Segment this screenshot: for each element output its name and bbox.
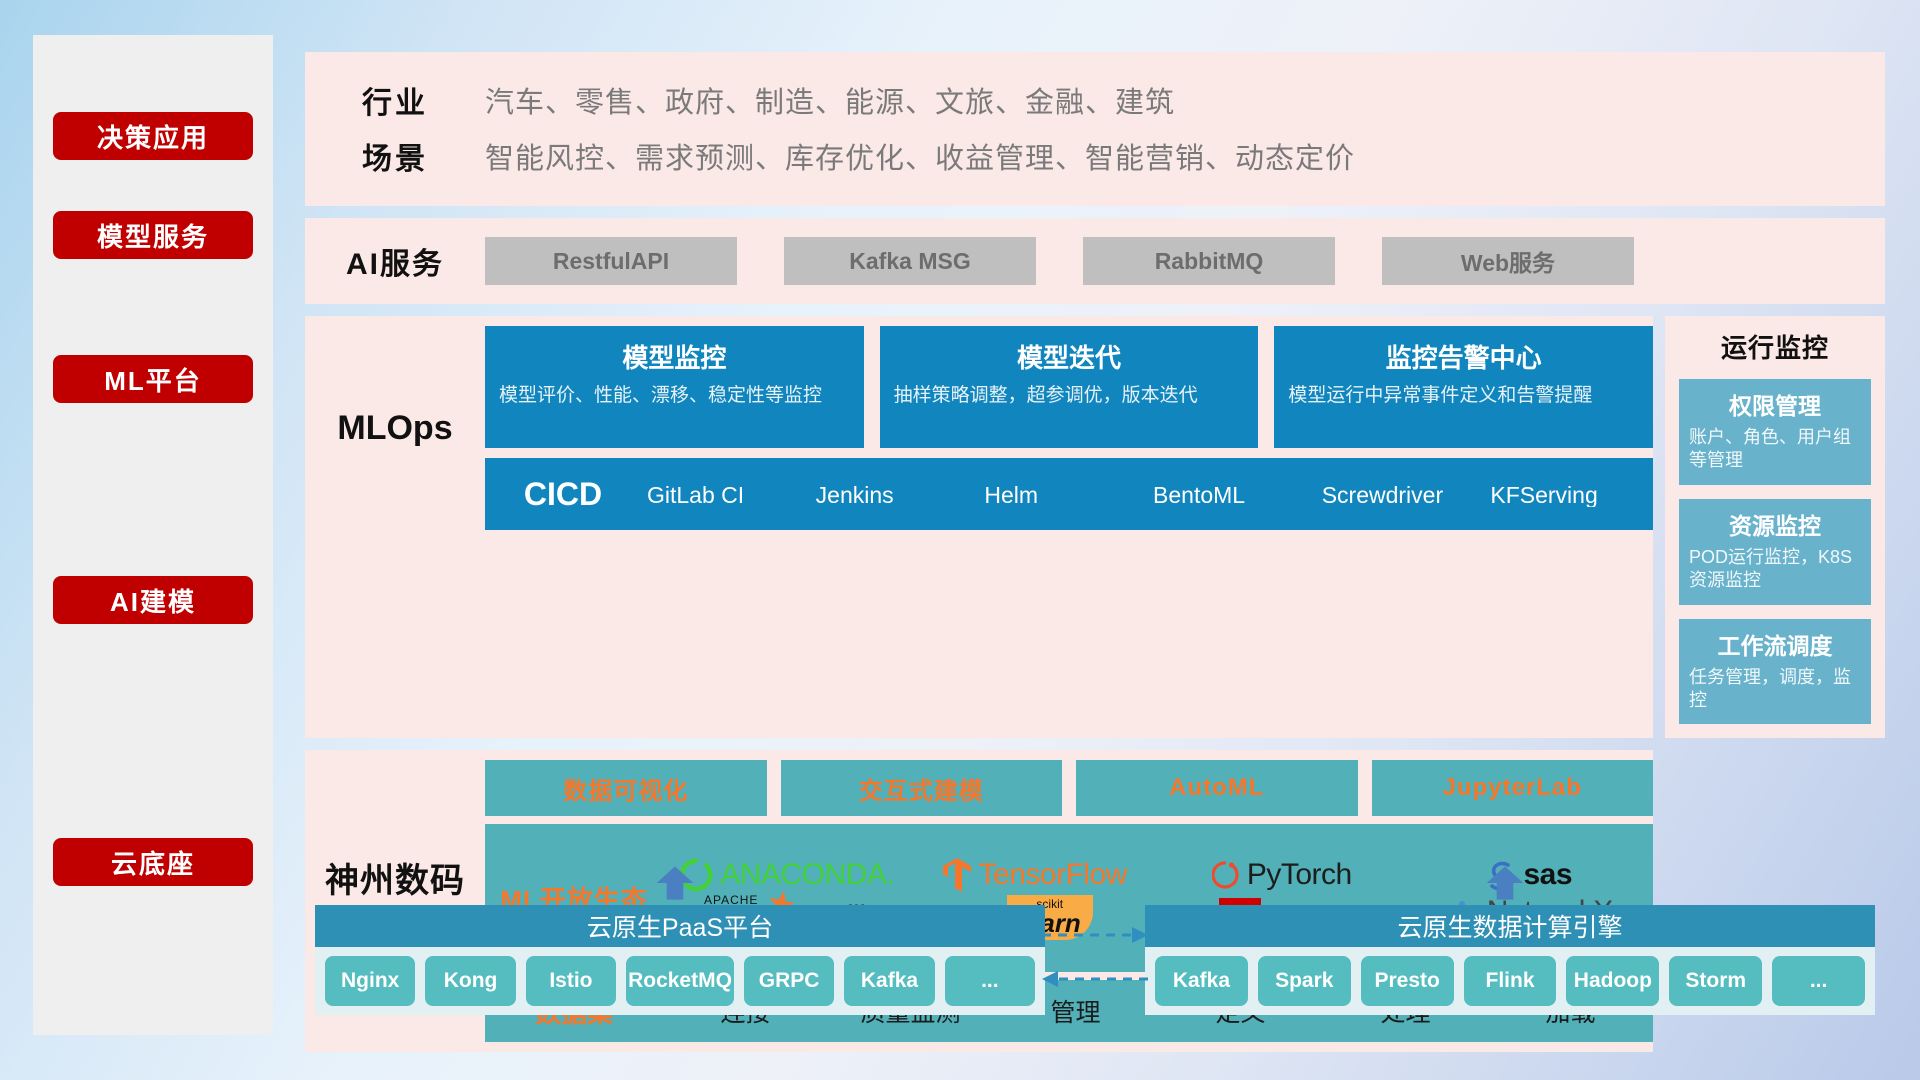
scenario-row: 场景 智能风控、需求预测、库存优化、收益管理、智能营销、动态定价 [305,128,1885,184]
ops-card-model-iteration[interactable]: 模型迭代 抽样策略调整，超参调优，版本迭代 [880,326,1259,448]
monitor-card-workflow[interactable]: 工作流调度 任务管理，调度，监控 [1679,619,1871,725]
cloud-data-engine-group: 云原生数据计算引擎 Kafka Spark Presto Flink Hadoo… [1145,905,1875,1015]
cloud-chip-flink[interactable]: Flink [1464,956,1557,1006]
monitor-card-resource[interactable]: 资源监控 POD运行监控，K8S资源监控 [1679,499,1871,605]
cloud-chip-kafka2[interactable]: Kafka [1155,956,1248,1006]
scenario-key: 场景 [305,134,485,178]
cicd-item-jenkins[interactable]: Jenkins [810,483,979,507]
monitor-card-desc: POD运行监控，K8S资源监控 [1689,546,1861,593]
mlops-key: MLOps [305,326,485,530]
ops-card-title: 模型迭代 [894,338,1245,375]
rail-item-cloud-base[interactable]: 云底座 [53,838,253,886]
cloud-chip-more[interactable]: ... [945,956,1035,1006]
monitor-card-desc: 任务管理，调度，监控 [1689,666,1861,713]
cloud-chip-hadoop[interactable]: Hadoop [1566,956,1659,1006]
cloud-chip-kafka[interactable]: Kafka [844,956,934,1006]
ai-service-band: AI服务 RestfulAPI Kafka MSG RabbitMQ Web服务 [305,218,1885,304]
up-arrow-data-engine-icon [1485,863,1525,903]
cloud-data-engine-title: 云原生数据计算引擎 [1145,905,1875,947]
industry-key: 行业 [305,78,485,122]
ai-service-chips: RestfulAPI Kafka MSG RabbitMQ Web服务 [485,237,1885,285]
tab-interactive-modeling[interactable]: 交互式建模 [781,760,1063,816]
cloud-paas-chips: Nginx Kong Istio RocketMQ GRPC Kafka ... [315,947,1045,1015]
rail-item-ml-platform[interactable]: ML平台 [53,355,253,403]
cloud-chip-rocketmq[interactable]: RocketMQ [626,956,734,1006]
rail-item-decision-app[interactable]: 决策应用 [53,112,253,160]
rail-item-ai-modeling[interactable]: AI建模 [53,576,253,624]
runtime-monitor-panel: 运行监控 权限管理 账户、角色、用户组等管理 资源监控 POD运行监控，K8S资… [1665,316,1885,738]
ai-chip-web-service[interactable]: Web服务 [1382,237,1634,285]
rail-label: ML平台 [104,361,202,398]
cloud-chip-spark[interactable]: Spark [1258,956,1351,1006]
cloud-chip-nginx[interactable]: Nginx [325,956,415,1006]
ai-chip-kafka-msg[interactable]: Kafka MSG [784,237,1036,285]
ops-card-title: 模型监控 [499,338,850,375]
industry-band: 行业 汽车、零售、政府、制造、能源、文旅、金融、建筑 场景 智能风控、需求预测、… [305,52,1885,206]
cloud-paas-title: 云原生PaaS平台 [315,905,1045,947]
bidirectional-link-arrows-icon [1040,917,1150,997]
ops-card-desc: 抽样策略调整，超参调优，版本迭代 [894,383,1245,408]
monitor-card-title: 工作流调度 [1689,627,1861,661]
cicd-items: GitLab CI Jenkins Helm BentoML Screwdriv… [641,481,1653,507]
rail-label: 模型服务 [97,217,209,254]
up-arrow-paas-icon [655,863,695,903]
cicd-item-gitlab-ci[interactable]: GitLab CI [641,483,810,507]
cicd-item-helm[interactable]: Helm [978,483,1147,507]
ai-chip-restfulapi[interactable]: RestfulAPI [485,237,737,285]
diagram-root: 决策应用 模型服务 ML平台 AI建模 云底座 行业 汽车、零售、政府、制造、能… [0,0,1920,1080]
ai-service-key: AI服务 [305,239,485,283]
ops-card-model-monitoring[interactable]: 模型监控 模型评价、性能、漂移、稳定性等监控 [485,326,864,448]
cicd-label: CICD [485,476,641,513]
cloud-paas-group: 云原生PaaS平台 Nginx Kong Istio RocketMQ GRPC… [315,905,1045,1015]
cloud-foundation-section: 云原生PaaS平台 Nginx Kong Istio RocketMQ GRPC… [305,885,1885,1035]
cicd-bar: CICD GitLab CI Jenkins Helm BentoML Scre… [485,458,1653,530]
cloud-chip-storm[interactable]: Storm [1669,956,1762,1006]
monitor-card-desc: 账户、角色、用户组等管理 [1689,426,1861,473]
cloud-chip-kong[interactable]: Kong [425,956,515,1006]
mlops-band: MLOps 模型监控 模型评价、性能、漂移、稳定性等监控 模型迭代 抽样策略调整… [305,316,1885,738]
runtime-monitor-title: 运行监控 [1679,328,1871,365]
cloud-chip-presto[interactable]: Presto [1361,956,1454,1006]
rail-item-model-service[interactable]: 模型服务 [53,211,253,259]
rail-label: 决策应用 [97,118,209,155]
scenario-value: 智能风控、需求预测、库存优化、收益管理、智能营销、动态定价 [485,135,1355,177]
ops-card-title: 监控告警中心 [1288,338,1639,375]
ops-card-desc: 模型评价、性能、漂移、稳定性等监控 [499,383,850,408]
cicd-item-bentoml[interactable]: BentoML [1147,483,1316,507]
cloud-chip-more2[interactable]: ... [1772,956,1865,1006]
cloud-chip-grpc[interactable]: GRPC [744,956,834,1006]
cloud-data-engine-chips: Kafka Spark Presto Flink Hadoop Storm ..… [1145,947,1875,1015]
ops-card-alert-center[interactable]: 监控告警中心 模型运行中异常事件定义和告警提醒 [1274,326,1653,448]
mlops-main: MLOps 模型监控 模型评价、性能、漂移、稳定性等监控 模型迭代 抽样策略调整… [305,316,1653,738]
tab-jupyterlab[interactable]: JupyterLab [1372,760,1654,816]
mlops-cards: 模型监控 模型评价、性能、漂移、稳定性等监控 模型迭代 抽样策略调整，超参调优，… [485,326,1653,530]
ops-card-desc: 模型运行中异常事件定义和告警提醒 [1288,383,1639,408]
ml-lab-tabs: 数据可视化 交互式建模 AutoML JupyterLab [485,760,1653,816]
cicd-item-screwdriver[interactable]: Screwdriver [1316,483,1485,507]
monitor-card-permission[interactable]: 权限管理 账户、角色、用户组等管理 [1679,379,1871,485]
ai-chip-rabbitmq[interactable]: RabbitMQ [1083,237,1335,285]
monitor-card-title: 权限管理 [1689,387,1861,421]
rail-label: AI建模 [110,582,196,619]
industry-value: 汽车、零售、政府、制造、能源、文旅、金融、建筑 [485,79,1175,121]
industry-row: 行业 汽车、零售、政府、制造、能源、文旅、金融、建筑 [305,72,1885,128]
monitor-card-title: 资源监控 [1689,507,1861,541]
layer-rail: 决策应用 模型服务 ML平台 AI建模 云底座 [33,35,273,1035]
tab-automl[interactable]: AutoML [1076,760,1358,816]
cloud-chip-istio[interactable]: Istio [526,956,616,1006]
tab-data-visualization[interactable]: 数据可视化 [485,760,767,816]
rail-label: 云底座 [111,844,195,881]
cicd-item-kfserving[interactable]: KFServing [1484,483,1653,507]
